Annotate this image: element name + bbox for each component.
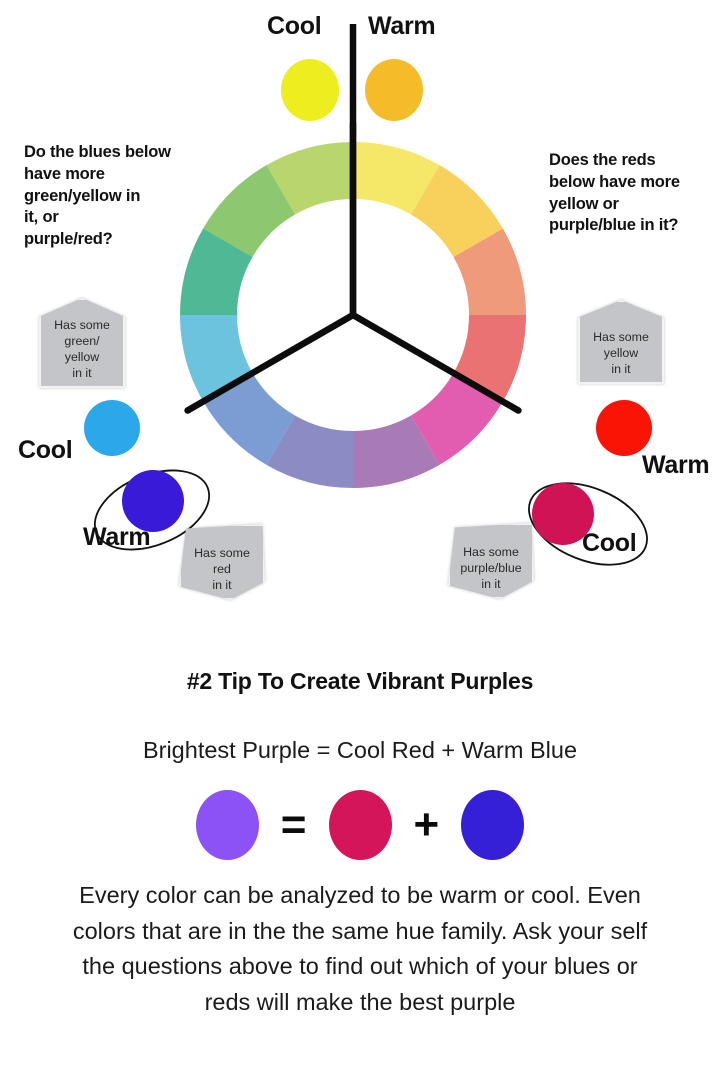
equation-text: Brightest Purple = Cool Red + Warm Blue	[0, 737, 720, 764]
warm-blue-operand-swatch	[461, 790, 524, 860]
question-right: Does the reds below have more yellow or …	[549, 150, 720, 237]
callout-has-green-yellow: Has some green/ yellow in it	[39, 298, 125, 388]
cool-red-operand-swatch	[329, 790, 392, 860]
callout-text: Has some red in it	[191, 545, 253, 593]
label-cool-right: Cool	[582, 529, 636, 558]
label-cool-top: Cool	[267, 12, 321, 41]
callout-has-purple-blue: Has some purple/blue in it	[448, 523, 534, 599]
callout-text: Has some purple/blue in it	[457, 544, 524, 592]
cool-red-swatch	[532, 483, 594, 545]
tip-title: #2 Tip To Create Vibrant Purples	[0, 668, 720, 695]
callout-has-yellow: Has some yellow in it	[578, 300, 664, 384]
question-left: Do the blues below have more green/yello…	[24, 142, 229, 251]
label-warm-right: Warm	[642, 451, 709, 480]
callout-has-red: Has some red in it	[179, 524, 265, 600]
warm-red-swatch	[596, 400, 652, 456]
label-warm-top: Warm	[368, 12, 435, 41]
warm-yellow-swatch	[365, 59, 423, 121]
warm-blue-swatch	[122, 470, 184, 532]
callout-text: Has some yellow in it	[590, 329, 652, 377]
summary-paragraph: Every color can be analyzed to be warm o…	[62, 878, 658, 1021]
callout-text: Has some green/ yellow in it	[51, 317, 113, 382]
color-wheel-area: Do the blues below have more green/yello…	[0, 0, 720, 640]
plus-sign: +	[414, 803, 440, 847]
equals-sign: =	[281, 803, 307, 847]
equation-row: = +	[0, 787, 720, 862]
cool-yellow-swatch	[281, 59, 339, 121]
cool-blue-swatch	[84, 400, 140, 456]
label-cool-left: Cool	[18, 436, 72, 465]
result-purple-swatch	[196, 790, 259, 860]
